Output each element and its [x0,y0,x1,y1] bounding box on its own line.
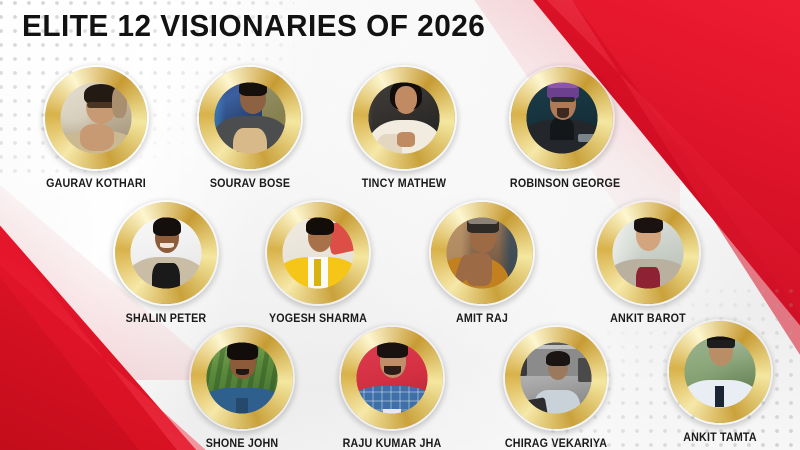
avatar[interactable] [666,318,774,426]
person-name: CHIRAG VEKARIYA [504,438,608,450]
avatar[interactable] [508,64,616,172]
portrait-photo [191,327,293,429]
avatar[interactable] [264,199,372,307]
portrait-photo [45,67,147,169]
person-card[interactable]: RAJU KUMAR JHA [336,324,448,450]
portrait-photo [341,327,443,429]
person-name: TINCY MATHEW [352,178,456,190]
person-card[interactable]: SOURAV BOSE [194,64,306,190]
avatar[interactable] [428,199,536,307]
person-card[interactable]: YOGESH SHARMA [262,199,374,325]
person-name: SHONE JOHN [190,438,294,450]
visionaries-grid: GAURAV KOTHARI SOURAV BOSE [0,0,800,450]
portrait-photo [199,67,301,169]
person-card[interactable]: SHALIN PETER [110,199,222,325]
person-card[interactable]: TINCY MATHEW [348,64,460,190]
person-name: ANKIT TAMTA [668,432,772,444]
avatar[interactable] [112,199,220,307]
person-card[interactable]: ANKIT TAMTA [664,318,776,444]
person-card[interactable]: AMIT RAJ [426,199,538,325]
person-card[interactable]: ANKIT BAROT [592,199,704,325]
avatar[interactable] [196,64,304,172]
person-name: GAURAV KOTHARI [44,178,148,190]
portrait-photo [353,67,455,169]
portrait-photo [267,202,369,304]
person-name: RAJU KUMAR JHA [340,438,444,450]
portrait-photo [431,202,533,304]
portrait-photo [669,321,771,423]
person-card[interactable]: SHONE JOHN [186,324,298,450]
poster-stage: ELITE 12 VISIONARIES OF 2026 GAURAV KOTH… [0,0,800,450]
portrait-photo [511,67,613,169]
portrait-photo [597,202,699,304]
avatar[interactable] [350,64,458,172]
portrait-photo [115,202,217,304]
person-card[interactable]: ROBINSON GEORGE [506,64,618,190]
person-name: ROBINSON GEORGE [510,178,614,190]
avatar[interactable] [594,199,702,307]
person-card[interactable]: CHIRAG VEKARIYA [500,324,612,450]
page-title: ELITE 12 VISIONARIES OF 2026 [22,8,485,44]
person-card[interactable]: GAURAV KOTHARI [40,64,152,190]
portrait-photo [505,327,607,429]
avatar[interactable] [502,324,610,432]
avatar[interactable] [188,324,296,432]
avatar[interactable] [42,64,150,172]
person-name: SOURAV BOSE [198,178,302,190]
avatar[interactable] [338,324,446,432]
